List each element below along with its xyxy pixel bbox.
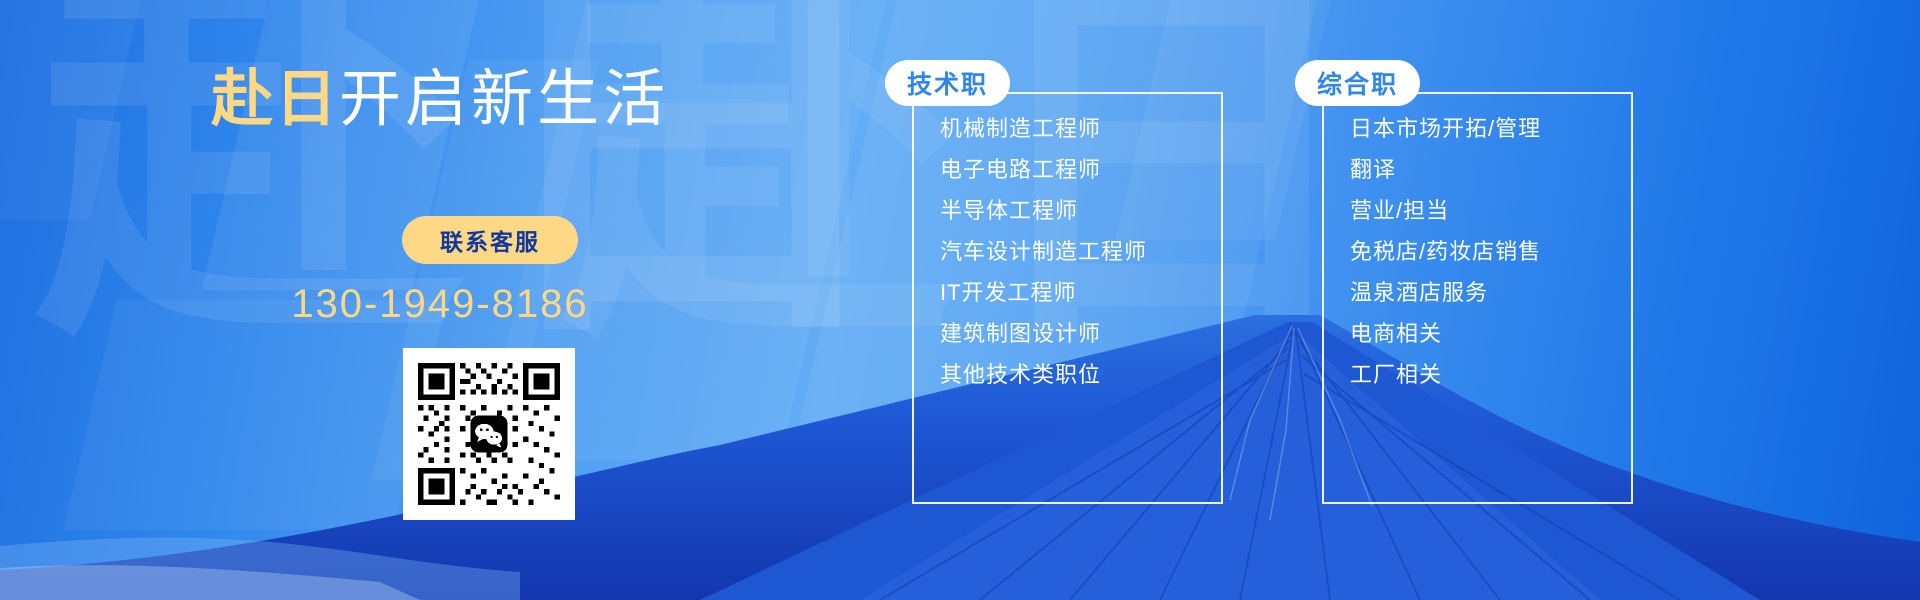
wechat-qr-code[interactable] — [403, 348, 575, 520]
list-item[interactable]: 日本市场开拓/管理 — [1350, 108, 1541, 149]
list-item[interactable]: 其他技术类职位 — [940, 354, 1147, 395]
list-item[interactable]: 工厂相关 — [1350, 354, 1541, 395]
list-item[interactable]: 电商相关 — [1350, 313, 1541, 354]
list-item[interactable]: 半导体工程师 — [940, 190, 1147, 231]
list-item[interactable]: 翻译 — [1350, 149, 1541, 190]
headline-highlight: 赴日 — [211, 65, 339, 134]
list-item[interactable]: 机械制造工程师 — [940, 108, 1147, 149]
page-title: 赴日开启新生活 — [0, 48, 880, 138]
qr-code-image — [413, 358, 565, 510]
list-item[interactable]: 营业/担当 — [1350, 190, 1541, 231]
contact-customer-service-button[interactable]: 联系客服 — [402, 216, 578, 264]
job-list-general: 日本市场开拓/管理 翻译 营业/担当 免税店/药妆店销售 温泉酒店服务 电商相关… — [1350, 108, 1541, 395]
list-item[interactable]: 免税店/药妆店销售 — [1350, 231, 1541, 272]
list-item[interactable]: 汽车设计制造工程师 — [940, 231, 1147, 272]
job-list-technical: 机械制造工程师 电子电路工程师 半导体工程师 汽车设计制造工程师 IT开发工程师… — [940, 108, 1147, 395]
phone-number: 130-1949-8186 — [0, 282, 880, 327]
list-item[interactable]: IT开发工程师 — [940, 272, 1147, 313]
promo-banner: 赴日 赴日 — [0, 0, 1920, 600]
headline-rest: 开启新生活 — [339, 65, 669, 134]
category-badge-general[interactable]: 综合职 — [1295, 60, 1420, 106]
category-badge-technical[interactable]: 技术职 — [885, 60, 1010, 106]
list-item[interactable]: 建筑制图设计师 — [940, 313, 1147, 354]
list-item[interactable]: 电子电路工程师 — [940, 149, 1147, 190]
left-contact-panel: 赴日开启新生活 联系客服 130-1949-8186 — [0, 0, 880, 600]
list-item[interactable]: 温泉酒店服务 — [1350, 272, 1541, 313]
